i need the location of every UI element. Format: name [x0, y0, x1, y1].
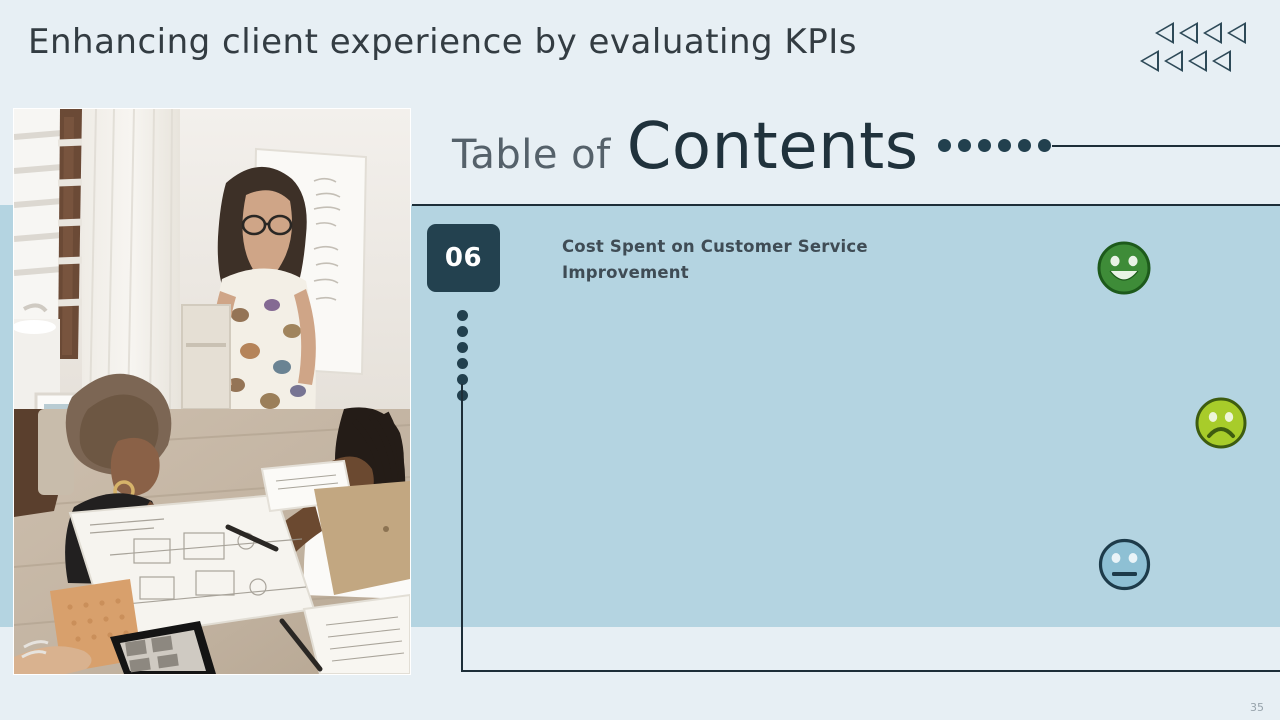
happy-face-icon — [1096, 240, 1152, 300]
team-photo — [13, 108, 411, 675]
heading-dot-row — [938, 139, 1051, 152]
band-top-rule — [412, 204, 1280, 206]
triangle-left-icon — [1188, 50, 1207, 72]
heading-dot — [938, 139, 951, 152]
triangle-left-icon — [1212, 50, 1231, 72]
connector-dot — [457, 358, 468, 369]
slide-canvas: Enhancing client experience by evaluatin… — [0, 0, 1280, 720]
page-number: 35 — [1250, 701, 1264, 714]
connector-dot — [457, 342, 468, 353]
neutral-face-icon — [1097, 537, 1152, 596]
triangle-left-icon — [1227, 22, 1246, 44]
heading-dot — [1018, 139, 1031, 152]
team-photo-image — [14, 109, 410, 674]
triangle-left-icon — [1164, 50, 1183, 72]
triangle-left-icon — [1155, 22, 1174, 44]
sad-face-icon — [1194, 396, 1248, 454]
toc-heading-large: Contents — [627, 110, 919, 184]
triangle-left-icon — [1179, 22, 1198, 44]
heading-dot — [958, 139, 971, 152]
toc-heading-small: Table of — [452, 132, 611, 178]
connector-vertical-line — [461, 384, 463, 672]
connector-horizontal-line — [461, 670, 1280, 672]
triangle-left-icon — [1203, 22, 1222, 44]
triangle-left-icon — [1140, 50, 1159, 72]
heading-dot — [998, 139, 1011, 152]
connector-dot — [457, 310, 468, 321]
contents-item-title[interactable]: Cost Spent on Customer Service Improveme… — [562, 234, 902, 286]
page-title: Enhancing client experience by evaluatin… — [28, 22, 857, 62]
heading-dot — [1038, 139, 1051, 152]
toc-heading: Table of Contents — [452, 110, 919, 184]
heading-rule — [1052, 145, 1280, 147]
contents-number-badge[interactable]: 06 — [427, 224, 500, 292]
heading-dot — [978, 139, 991, 152]
connector-dot — [457, 326, 468, 337]
contents-number-label: 06 — [445, 243, 482, 273]
triangle-decoration — [1127, 18, 1247, 78]
